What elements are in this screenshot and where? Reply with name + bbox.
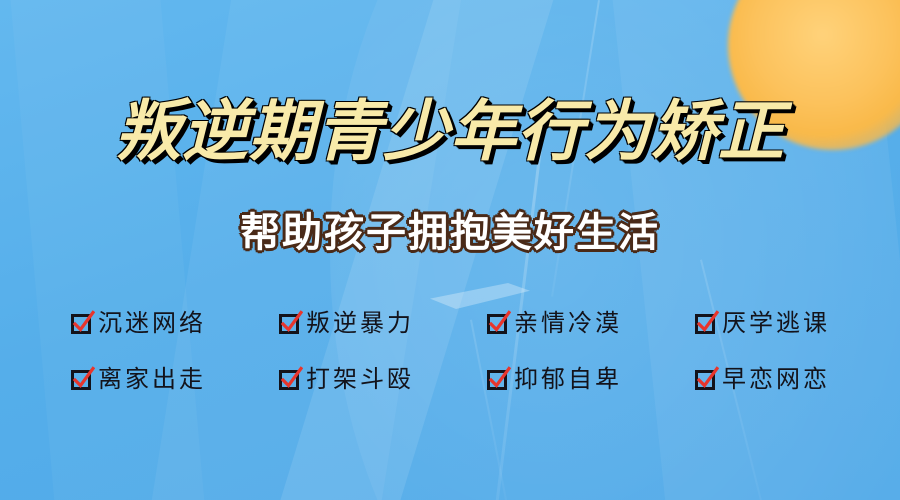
checked-checkbox-icon[interactable] — [70, 369, 91, 390]
checklist-item[interactable]: 抑郁自卑 — [486, 367, 622, 391]
issue-checklist: 沉迷网络 叛逆暴力 — [70, 295, 830, 407]
page-title: 叛逆期青少年行为矫正 — [0, 78, 900, 174]
page-subtitle: 帮助孩子拥抱美好生活 — [0, 200, 900, 258]
checklist-item-label: 抑郁自卑 — [514, 367, 622, 391]
checklist-item[interactable]: 离家出走 — [70, 367, 206, 391]
checklist-item[interactable]: 打架斗殴 — [278, 367, 414, 391]
checklist-item-label: 离家出走 — [98, 367, 206, 391]
checklist-item[interactable]: 叛逆暴力 — [278, 311, 414, 335]
checklist-item[interactable]: 厌学逃课 — [694, 311, 830, 335]
checked-checkbox-icon[interactable] — [278, 369, 299, 390]
checked-checkbox-icon[interactable] — [694, 313, 715, 334]
poster-content: 叛逆期青少年行为矫正 帮助孩子拥抱美好生活 沉迷网络 — [0, 0, 900, 500]
checklist-item-label: 叛逆暴力 — [306, 311, 414, 335]
checklist-item[interactable]: 早恋网恋 — [694, 367, 830, 391]
promo-poster: 叛逆期青少年行为矫正 帮助孩子拥抱美好生活 沉迷网络 — [0, 0, 900, 500]
checklist-item-label: 打架斗殴 — [306, 367, 414, 391]
checked-checkbox-icon[interactable] — [278, 313, 299, 334]
checklist-item-label: 亲情冷漠 — [514, 311, 622, 335]
checklist-item-label: 沉迷网络 — [98, 311, 206, 335]
checklist-row: 沉迷网络 叛逆暴力 — [70, 295, 830, 351]
checked-checkbox-icon[interactable] — [70, 313, 91, 334]
checked-checkbox-icon[interactable] — [694, 369, 715, 390]
checklist-item[interactable]: 沉迷网络 — [70, 311, 206, 335]
checklist-row: 离家出走 打架斗殴 — [70, 351, 830, 407]
checked-checkbox-icon[interactable] — [486, 313, 507, 334]
checklist-item-label: 早恋网恋 — [722, 367, 830, 391]
checklist-item-label: 厌学逃课 — [722, 311, 830, 335]
checklist-item[interactable]: 亲情冷漠 — [486, 311, 622, 335]
checked-checkbox-icon[interactable] — [486, 369, 507, 390]
